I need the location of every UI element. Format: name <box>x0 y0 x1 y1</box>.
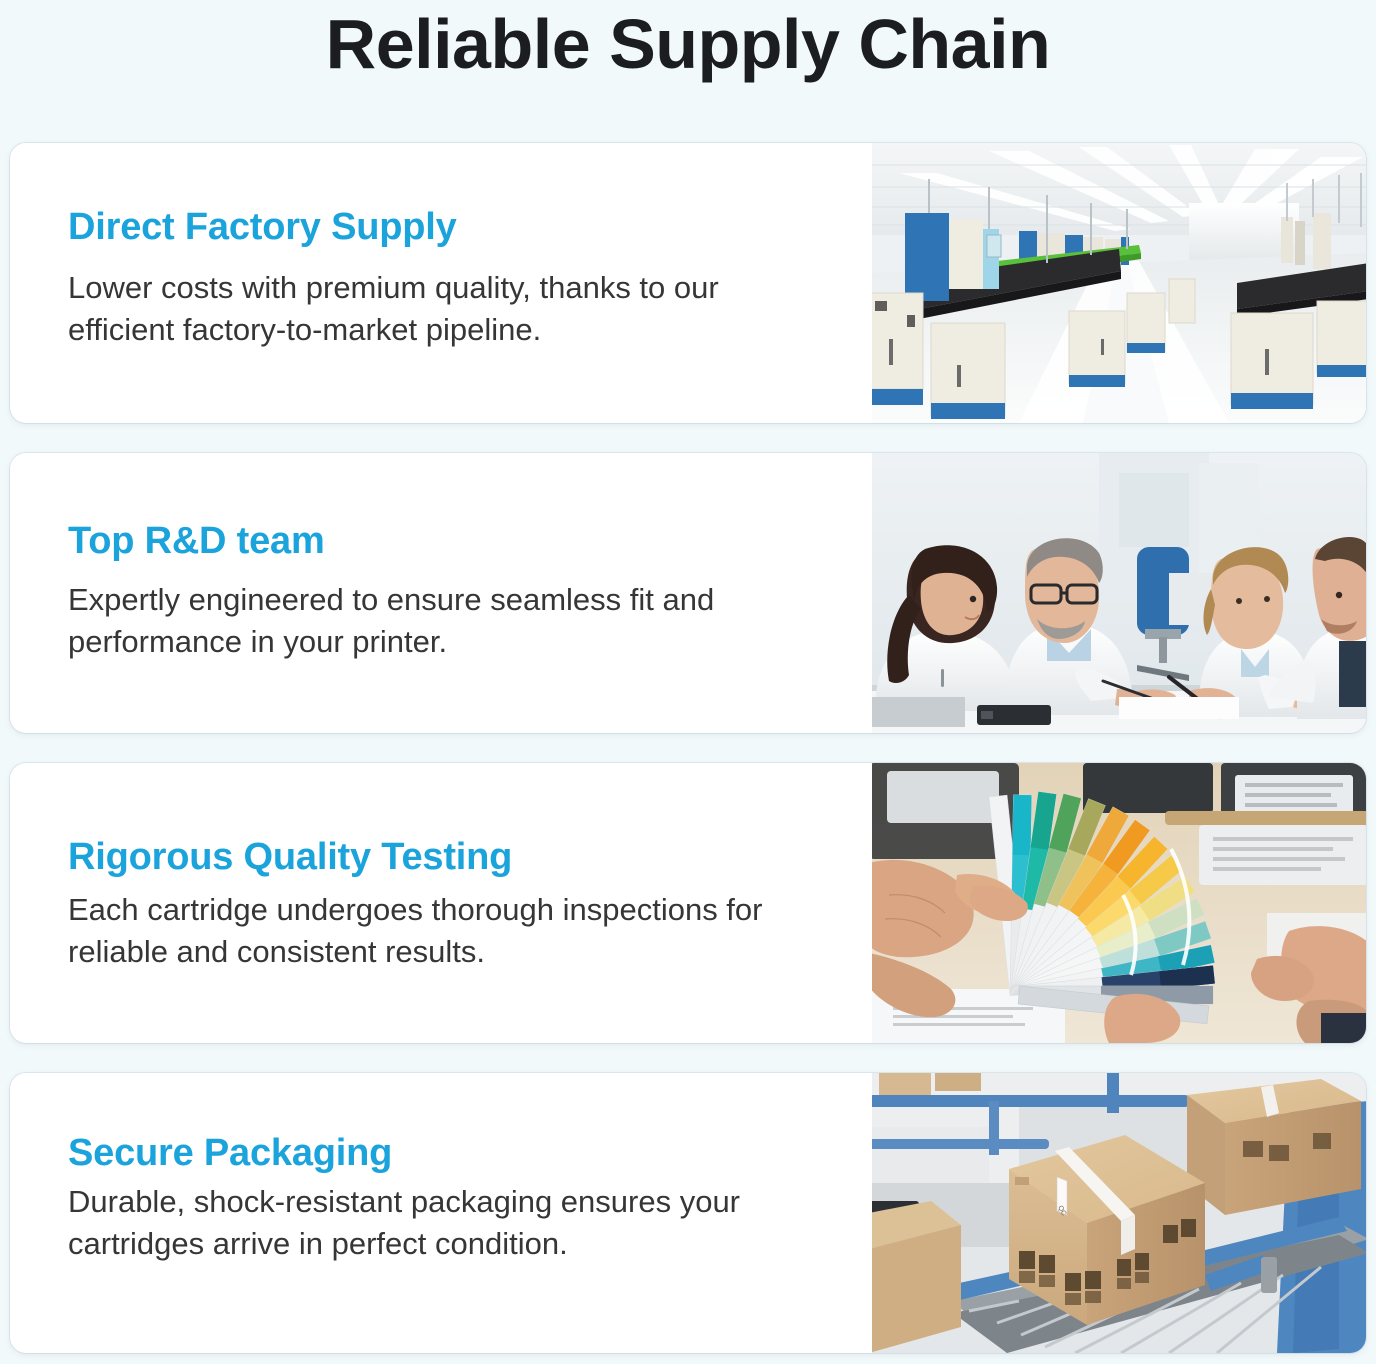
card-body: Secure Packaging Durable, shock-resistan… <box>10 1073 872 1353</box>
feature-card-rigorous-quality-testing[interactable]: Rigorous Quality Testing Each cartridge … <box>10 763 1366 1043</box>
rd-team-lab-coats-photo <box>872 453 1366 733</box>
feature-card-top-rd-team[interactable]: Top R&D team Expertly engineered to ensu… <box>10 453 1366 733</box>
card-description: Each cartridge undergoes thorough inspec… <box>68 889 828 973</box>
reliable-supply-chain-page: Reliable Supply Chain Direct Factory Sup… <box>0 0 1376 1364</box>
factory-production-line-photo <box>872 143 1366 423</box>
card-description: Expertly engineered to ensure seamless f… <box>68 579 828 663</box>
feature-card-secure-packaging[interactable]: Secure Packaging Durable, shock-resistan… <box>10 1073 1366 1353</box>
feature-card-list: Direct Factory Supply Lower costs with p… <box>10 143 1366 1353</box>
card-heading: Rigorous Quality Testing <box>68 835 832 879</box>
boxes-conveyor-photo: QC <box>872 1073 1366 1353</box>
color-swatch-fan-photo <box>872 763 1366 1043</box>
card-description: Lower costs with premium quality, thanks… <box>68 267 828 351</box>
page-title: Reliable Supply Chain <box>0 0 1376 86</box>
card-body: Rigorous Quality Testing Each cartridge … <box>10 763 872 1043</box>
card-body: Top R&D team Expertly engineered to ensu… <box>10 453 872 733</box>
card-heading: Direct Factory Supply <box>68 205 832 249</box>
card-description: Durable, shock-resistant packaging ensur… <box>68 1181 828 1265</box>
feature-card-direct-factory-supply[interactable]: Direct Factory Supply Lower costs with p… <box>10 143 1366 423</box>
card-heading: Top R&D team <box>68 519 832 563</box>
card-heading: Secure Packaging <box>68 1131 832 1175</box>
card-body: Direct Factory Supply Lower costs with p… <box>10 143 872 423</box>
